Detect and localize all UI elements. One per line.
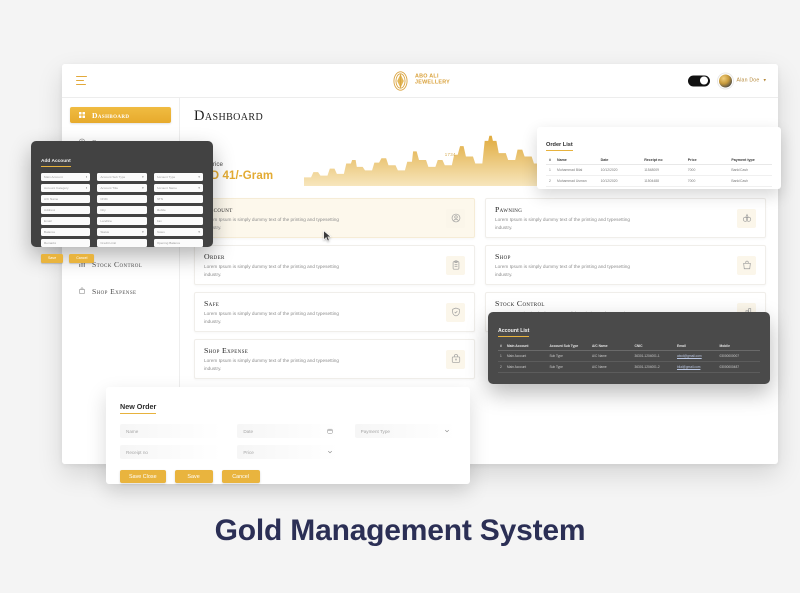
chevron-down-icon: ▾ [142, 230, 144, 234]
chevron-down-icon: ▾ [198, 230, 200, 234]
field-remarks[interactable]: Remarks [41, 239, 90, 247]
field-landline[interactable]: Landline [97, 217, 146, 225]
account-list-table: # Main Account Account Sub Type A/C Name… [498, 342, 760, 373]
field-label: NTN [157, 197, 163, 201]
card-description: Lorem Ipsum is simply dummy text of the … [204, 310, 342, 324]
field-opening-balance[interactable]: Opening Balance [154, 239, 203, 247]
shield-icon [446, 303, 465, 322]
pawning-icon [737, 209, 756, 228]
add-account-panel: Add Account Main Account▾ Account Sub Ty… [31, 141, 213, 247]
cell: 11548009 [641, 165, 685, 176]
cell: 10/12/2020 [598, 176, 642, 187]
field-cnic[interactable]: CNIC [97, 195, 146, 203]
cell-email[interactable]: abcd@gmail.com [675, 351, 718, 362]
field-label: Address [44, 208, 55, 212]
new-order-panel: New Order Name Date Payment Type Receipt… [106, 387, 470, 484]
cell: Muhammad Usman [554, 176, 598, 187]
chevron-down-icon: ▾ [142, 175, 144, 179]
card-description: Lorem Ipsum is simply dummy text of the … [204, 216, 342, 230]
hamburger-icon[interactable] [76, 76, 87, 85]
payment-type-select[interactable]: Payment Type [355, 424, 456, 438]
field-label: Credit Limit [100, 241, 116, 245]
name-input[interactable]: Name [120, 424, 221, 438]
input-placeholder: Receipt no [126, 450, 148, 455]
cell: Sub Type [548, 362, 591, 373]
cell: 36301-1204001-1 [633, 351, 676, 362]
order-list-title: Order List [546, 142, 573, 151]
field-label: City [100, 208, 105, 212]
clipboard-icon [446, 256, 465, 275]
field-status[interactable]: Status▾ [97, 228, 146, 236]
cell: 10/12/2020 [598, 165, 642, 176]
cell: 7000 [685, 165, 729, 176]
save-close-button[interactable]: Save Close [120, 470, 166, 483]
card-account[interactable]: Account Lorem Ipsum is simply dummy text… [194, 198, 475, 238]
cancel-button[interactable]: Cancel [222, 470, 260, 483]
cell: Muhammad Bilal [554, 165, 598, 176]
table-row[interactable]: 1 Muhammad Bilal 10/12/2020 11548009 700… [546, 165, 772, 176]
cell: Sub Type [548, 351, 591, 362]
new-order-form: Name Date Payment Type Receipt no Price [120, 424, 456, 459]
order-list-panel: Order List # Name Date Receipt no Price … [537, 127, 781, 189]
user-menu[interactable]: Alan Doe ▾ [718, 73, 766, 88]
cell: A/C Name [590, 362, 633, 373]
field-account-title[interactable]: Account Title▾ [97, 184, 146, 192]
footer-title: Gold Management System [0, 514, 800, 548]
cell: A/C Name [590, 351, 633, 362]
field-city[interactable]: City [97, 206, 146, 214]
screenshot-stage: ABO ALI JEWELLERY Alan Doe ▾ [0, 0, 800, 593]
cell: 1 [498, 351, 505, 362]
field-label: Account Title [100, 186, 118, 190]
card-pawning[interactable]: Pawning Lorem Ipsum is simply dummy text… [485, 198, 766, 238]
input-placeholder: Name [126, 429, 138, 434]
card-shop-expense[interactable]: Shop Expense Lorem Ipsum is simply dummy… [194, 339, 475, 379]
field-account-category[interactable]: Account Category▾ [41, 184, 90, 192]
field-label: Email [44, 219, 52, 223]
cancel-button[interactable]: Cancel [69, 254, 94, 263]
table-header-row: # Main Account Account Sub Type A/C Name… [498, 342, 760, 351]
sidebar-item-label: Shop Expense [92, 287, 136, 296]
order-list-table: # Name Date Receipt no Price Payment typ… [546, 156, 772, 187]
sidebar-item-shop-expense[interactable]: Shop Expense [70, 283, 171, 299]
field-label: CNIC [100, 197, 108, 201]
table-row[interactable]: 2 Main Account Sub Type A/C Name 36301-1… [498, 362, 760, 373]
table-header-row: # Name Date Receipt no Price Payment typ… [546, 156, 772, 165]
card-shop[interactable]: Shop Lorem Ipsum is simply dummy text of… [485, 245, 766, 285]
shop-expense-icon [78, 287, 86, 295]
card-description: Lorem Ipsum is simply dummy text of the … [204, 263, 342, 277]
card-description: Lorem Ipsum is simply dummy text of the … [204, 357, 342, 371]
cell: 11504488 [641, 176, 685, 187]
page-title: Dashboard [194, 108, 766, 125]
table-row[interactable]: 2 Muhammad Usman 10/12/2020 11504488 700… [546, 176, 772, 187]
new-order-actions: Save Close Save Cancel [120, 470, 456, 483]
chevron-down-icon[interactable] [444, 428, 450, 434]
field-label: Balance [44, 230, 55, 234]
card-description: Lorem Ipsum is simply dummy text of the … [495, 216, 633, 230]
field-label: Main Account [44, 175, 63, 179]
card-title: Account [204, 205, 446, 214]
chevron-down-icon: ▾ [86, 175, 88, 179]
field-ntn[interactable]: NTN [154, 195, 203, 203]
card-title: Pawning [495, 205, 737, 214]
receipt-no-input[interactable]: Receipt no [120, 445, 221, 459]
chevron-down-icon: ▾ [198, 186, 200, 190]
cell: Main Account [505, 351, 548, 362]
field-fax[interactable]: Fax [154, 217, 203, 225]
column-header: Mobile [718, 342, 761, 351]
field-label: Account Category [44, 186, 69, 190]
cell: 2 [546, 176, 554, 187]
table-row[interactable]: 1 Main Account Sub Type A/C Name 36301-1… [498, 351, 760, 362]
sidebar-item-dashboard[interactable]: Dashboard [70, 107, 171, 123]
chevron-down-icon: ▾ [86, 186, 88, 190]
form-spacer [355, 445, 456, 459]
chevron-down-icon: ▾ [763, 78, 766, 84]
brand-line-2: JEWELLERY [415, 81, 450, 87]
price-select[interactable]: Price [237, 445, 338, 459]
field-label: Account Name [157, 186, 177, 190]
field-label: Opening Balance [157, 241, 181, 245]
skyline-tag: 1734 [445, 152, 456, 157]
calendar-icon[interactable] [327, 428, 333, 434]
column-header: Main Account [505, 342, 548, 351]
account-list-title: Account List [498, 328, 529, 337]
column-header: Date [598, 156, 642, 165]
field-credit-limit[interactable]: Credit Limit [97, 239, 146, 247]
account-list-panel: Account List # Main Account Account Sub … [488, 312, 770, 384]
column-header: A/C Name [590, 342, 633, 351]
cell-email[interactable]: bilal@gmail.com [675, 362, 718, 373]
card-description: Lorem Ipsum is simply dummy text of the … [495, 263, 633, 277]
cell: Bank/Cash [728, 176, 772, 187]
card-title: Shop Expense [204, 346, 446, 355]
field-label: Remarks [44, 241, 56, 245]
card-title: Stock Control [495, 299, 737, 308]
topbar-right: Alan Doe ▾ [688, 73, 766, 88]
field-account-sub-type[interactable]: Account Sub Type▾ [97, 173, 146, 181]
input-placeholder: Date [243, 429, 253, 434]
new-order-title: New Order [120, 402, 156, 414]
cell: Main Account [505, 362, 548, 373]
date-input[interactable]: Date [237, 424, 338, 438]
field-email[interactable]: Email [41, 217, 90, 225]
avatar [718, 73, 733, 88]
sidebar-item-label: Dashboard [92, 111, 129, 120]
theme-toggle[interactable] [688, 75, 710, 86]
column-header: Email [675, 342, 718, 351]
dashboard-icon [78, 111, 86, 119]
add-account-actions: Save Cancel [41, 254, 203, 263]
field-label: Fax [157, 219, 162, 223]
save-button[interactable]: Save [41, 254, 63, 263]
expense-icon [446, 350, 465, 369]
save-button[interactable]: Save [175, 470, 213, 483]
field-mobile[interactable]: Mobile [154, 206, 203, 214]
column-header: Name [554, 156, 598, 165]
cell: 03000000007 [718, 351, 761, 362]
field-label: Mobile [157, 208, 166, 212]
column-header: Receipt no [641, 156, 685, 165]
input-placeholder: Price [243, 450, 253, 455]
field-notes[interactable]: Notes▾ [154, 228, 203, 236]
column-header: Payment type [728, 156, 772, 165]
column-header: Account Sub Type [548, 342, 591, 351]
field-label: A/C Name [44, 197, 58, 201]
card-title: Order [204, 252, 446, 261]
mouse-cursor [323, 229, 332, 240]
cell: 7000 [685, 176, 729, 187]
chevron-down-icon: ▾ [198, 175, 200, 179]
field-label: Notes [157, 230, 165, 234]
field-label: Status [100, 230, 109, 234]
card-safe[interactable]: Safe Lorem Ipsum is simply dummy text of… [194, 292, 475, 332]
jewellery-diamond-icon [390, 70, 411, 91]
user-name: Alan Doe [737, 78, 760, 84]
field-account-name[interactable]: Account Name▾ [154, 184, 203, 192]
cell: Bank/Cash [728, 165, 772, 176]
column-header: # [546, 156, 554, 165]
chevron-down-icon: ▾ [142, 186, 144, 190]
app-topbar: ABO ALI JEWELLERY Alan Doe ▾ [62, 64, 778, 98]
field-main-account[interactable]: Main Account▾ [41, 173, 90, 181]
cell: 03000000487 [718, 362, 761, 373]
column-header: CNIC [633, 342, 676, 351]
shop-bag-icon [737, 256, 756, 275]
field-label: Landline [100, 219, 112, 223]
field-label: Account Sub Type [100, 175, 125, 179]
add-account-title: Add Account [41, 159, 71, 167]
input-placeholder: Payment Type [361, 429, 390, 434]
cell: 1 [546, 165, 554, 176]
cell: 2 [498, 362, 505, 373]
field-label: Account Type [157, 175, 176, 179]
field-ac-name[interactable]: A/C Name [41, 195, 90, 203]
field-balance[interactable]: Balance [41, 228, 90, 236]
card-title: Safe [204, 299, 446, 308]
add-account-form: Main Account▾ Account Sub Type▾ Account … [41, 173, 203, 247]
cell: 36301-1204001-2 [633, 362, 676, 373]
field-account-type[interactable]: Account Type▾ [154, 173, 203, 181]
column-header: # [498, 342, 505, 351]
brand-logo: ABO ALI JEWELLERY [390, 70, 450, 91]
chevron-down-icon[interactable] [327, 449, 333, 455]
account-circle-icon [446, 209, 465, 228]
column-header: Price [685, 156, 729, 165]
card-title: Shop [495, 252, 737, 261]
card-order[interactable]: Order Lorem Ipsum is simply dummy text o… [194, 245, 475, 285]
field-address[interactable]: Address [41, 206, 90, 214]
